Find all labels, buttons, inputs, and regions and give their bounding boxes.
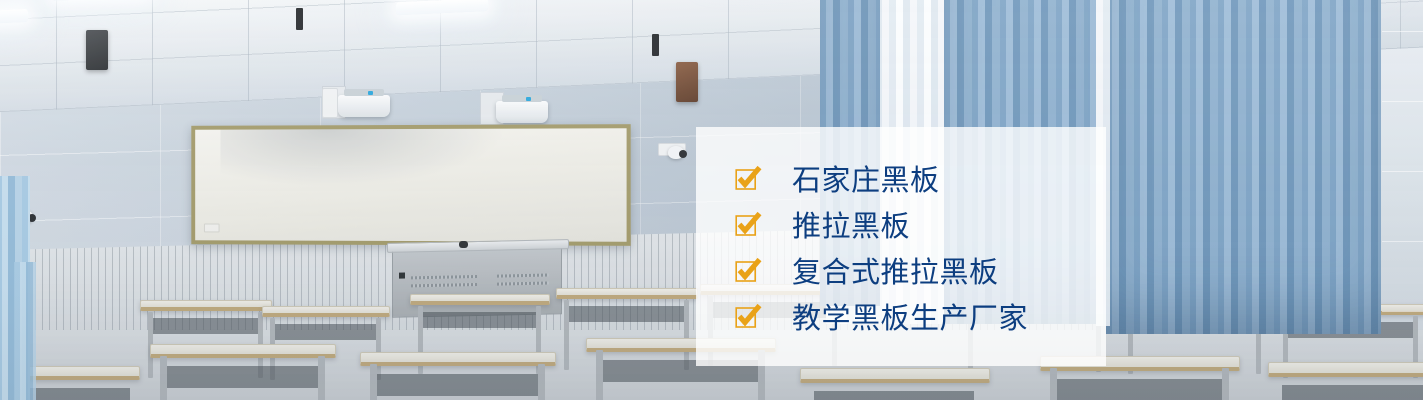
- desk-shelf: [420, 312, 540, 328]
- feature-label: 复合式推拉黑板: [792, 249, 999, 291]
- checkbox-checked-icon: [735, 165, 761, 191]
- desk-shelf: [272, 324, 380, 340]
- wall-camera-icon: [668, 146, 684, 159]
- projector-led-icon: [526, 97, 531, 101]
- whiteboard-shadow: [220, 129, 529, 194]
- desk-shelf: [1054, 379, 1224, 400]
- desk-leg: [538, 364, 545, 400]
- whiteboard-magnet: [204, 224, 220, 233]
- desk-shelf: [1282, 385, 1423, 400]
- wall-plate: [322, 88, 338, 118]
- projector-led-icon: [368, 91, 373, 95]
- feature-list-overlay: 石家庄黑板 推拉黑板 复合式推拉黑板: [696, 127, 1106, 366]
- projector: [338, 95, 390, 117]
- checkbox-checked-icon: [735, 303, 761, 329]
- projector: [496, 101, 548, 123]
- desk-leg: [318, 356, 325, 400]
- wall-speaker: [676, 62, 698, 102]
- window-curtain-left: [14, 262, 36, 400]
- console-camera-dot: [459, 241, 468, 248]
- desk-top: [1268, 362, 1423, 377]
- ceiling-sensor: [652, 34, 659, 56]
- feature-row[interactable]: 教学黑板生产厂家: [696, 293, 1106, 339]
- desk-top: [262, 306, 390, 317]
- desk-top: [140, 300, 272, 311]
- console-vent: [411, 275, 477, 279]
- console-vent: [411, 283, 477, 287]
- feature-label: 教学黑板生产厂家: [792, 295, 1028, 337]
- desk-shelf: [164, 366, 322, 388]
- desk-leg: [564, 300, 569, 370]
- desk-leg: [1050, 368, 1057, 400]
- feature-row[interactable]: 推拉黑板: [696, 201, 1106, 247]
- desk-leg: [370, 364, 377, 400]
- feature-label: 推拉黑板: [792, 203, 910, 245]
- ceiling-sensor: [296, 8, 303, 30]
- desk-top: [800, 368, 990, 383]
- whiteboard-surface: [195, 128, 626, 242]
- feature-label: 石家庄黑板: [792, 157, 940, 199]
- desk-top: [360, 352, 556, 366]
- checkbox-checked-icon: [735, 257, 761, 283]
- feature-row[interactable]: 石家庄黑板: [696, 155, 1106, 201]
- desk-top: [410, 294, 550, 305]
- classroom-banner: 石家庄黑板 推拉黑板 复合式推拉黑板: [0, 0, 1423, 400]
- wall-speaker: [86, 30, 108, 70]
- console-vent: [497, 281, 549, 285]
- console-vent: [497, 273, 549, 277]
- desk-leg: [1222, 368, 1229, 400]
- desk-shelf: [566, 306, 688, 322]
- desk-shelf: [374, 374, 540, 396]
- right-wall-strip: [1382, 12, 1423, 312]
- desk-shelf: [814, 391, 974, 400]
- desk-leg: [160, 356, 167, 400]
- desk-top: [150, 344, 336, 358]
- feature-row[interactable]: 复合式推拉黑板: [696, 247, 1106, 293]
- checkbox-checked-icon: [735, 211, 761, 237]
- desk-top: [556, 288, 698, 299]
- desk-leg: [596, 350, 603, 400]
- desk-shelf: [150, 318, 262, 334]
- window-curtain-blue: [1106, 0, 1381, 334]
- console-knob: [399, 273, 405, 279]
- whiteboard: [191, 124, 630, 246]
